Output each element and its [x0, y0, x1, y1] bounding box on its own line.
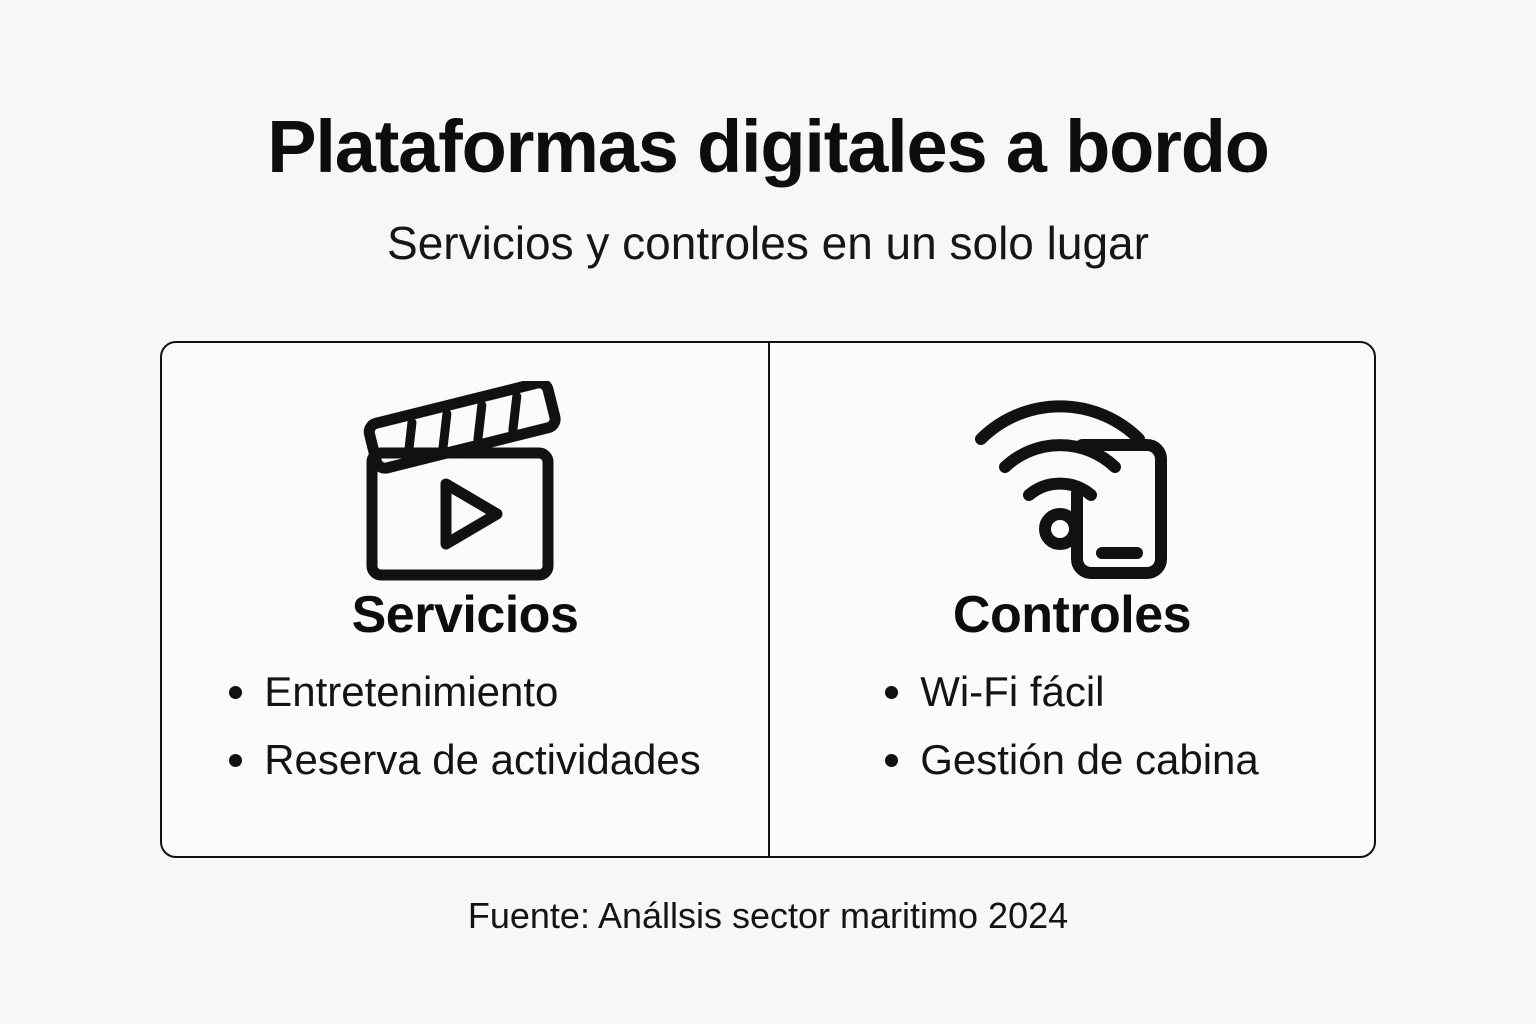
panel-controles: Controles Wi-Fi fácil Gestión de cabina [768, 343, 1374, 856]
list-item-label: Reserva de actividades [264, 739, 701, 781]
list-item-label: Wi-Fi fácil [920, 671, 1104, 713]
bullet-dot-icon [885, 686, 898, 699]
wifi-smartphone-icon [957, 381, 1187, 581]
infographic-page: Plataformas digitales a bordo Servicios … [0, 0, 1536, 1024]
list-item: Reserva de actividades [229, 739, 701, 781]
page-subtitle: Servicios y controles en un solo lugar [0, 184, 1536, 266]
bullet-dot-icon [229, 686, 242, 699]
bullet-list-controles: Wi-Fi fácil Gestión de cabina [885, 641, 1259, 781]
bullet-list-servicios: Entretenimiento Reserva de actividades [229, 641, 701, 781]
clapperboard-play-icon [350, 381, 580, 581]
comparison-card: Servicios Entretenimiento Reserva de act… [160, 341, 1376, 858]
source-footnote: Fuente: Anállsis sector maritimo 2024 [0, 895, 1536, 937]
list-item-label: Gestión de cabina [920, 739, 1259, 781]
panel-servicios: Servicios Entretenimiento Reserva de act… [162, 343, 768, 856]
header: Plataformas digitales a bordo Servicios … [0, 110, 1536, 266]
panel-title-servicios: Servicios [352, 581, 579, 641]
panel-title-controles: Controles [953, 581, 1191, 641]
list-item-label: Entretenimiento [264, 671, 558, 713]
list-item: Wi-Fi fácil [885, 671, 1104, 739]
bullet-dot-icon [885, 754, 898, 767]
bullet-dot-icon [229, 754, 242, 767]
list-item: Gestión de cabina [885, 739, 1259, 781]
list-item: Entretenimiento [229, 671, 558, 739]
page-title: Plataformas digitales a bordo [0, 110, 1536, 184]
